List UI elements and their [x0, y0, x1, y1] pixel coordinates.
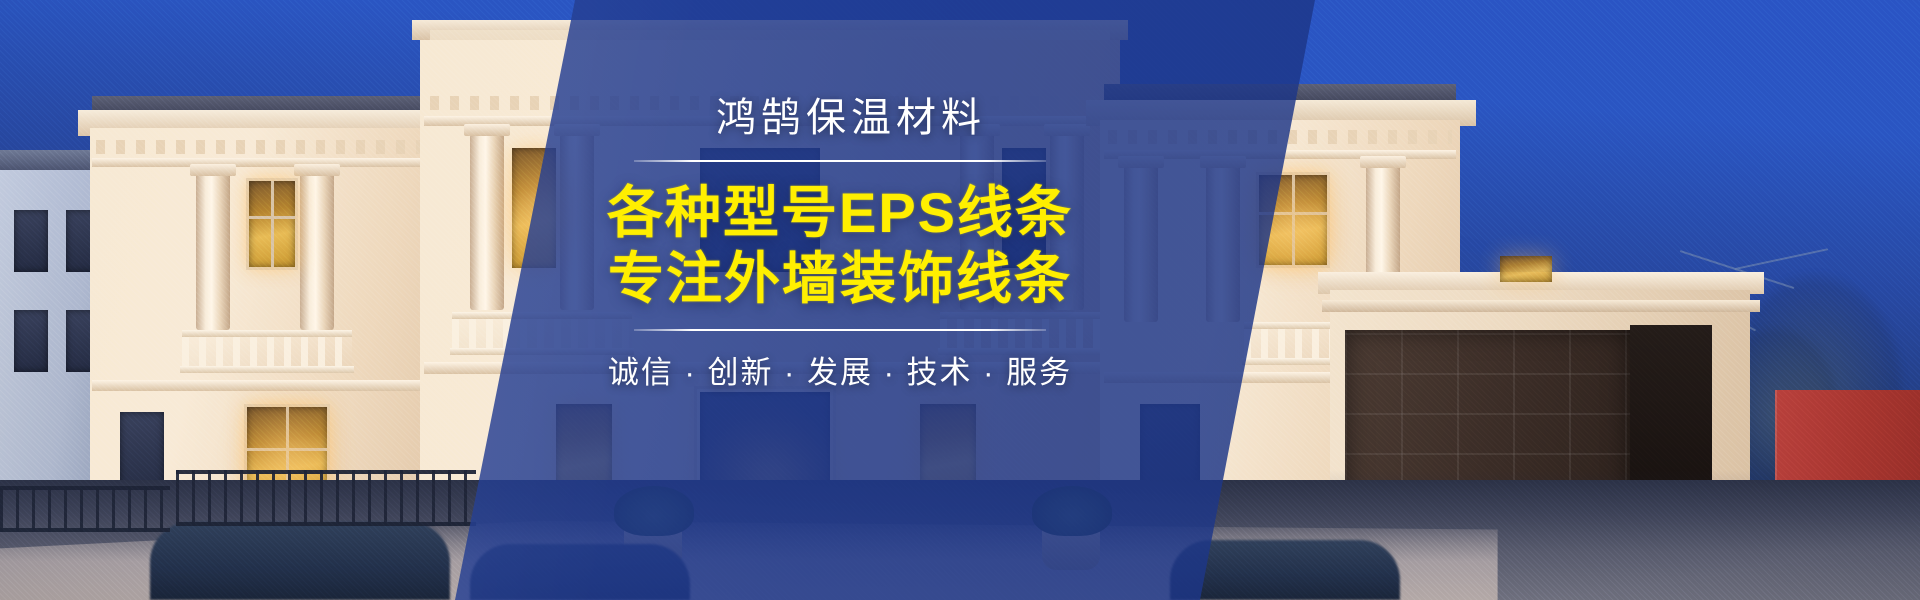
left-column-2 [300, 170, 334, 330]
right-column-1-capital [1118, 156, 1164, 168]
center-window-upper-left [512, 148, 556, 268]
left-window-upper-mullion [271, 181, 274, 267]
left-balcony-rail-top [182, 330, 352, 337]
headline: 各种型号EPS线条 专注外墙装饰线条 [560, 180, 1120, 311]
left-window-upper-transom [249, 216, 295, 219]
left-wing-dentils [96, 140, 444, 154]
left-wing-midband [92, 380, 448, 391]
right-column-2-capital [1200, 156, 1246, 168]
right-column-2 [1206, 162, 1240, 322]
left-balcony-balusters [182, 337, 352, 367]
right-window-upper-transom [1259, 212, 1327, 215]
banner-copy: 鸿鹄保温材料 各种型号EPS线条 专注外墙装饰线条 诚信 · 创新 · 发展 ·… [560, 96, 1120, 392]
left-column-2-capital [294, 164, 340, 176]
far-left-window-3 [14, 310, 48, 372]
garage-upper-window [1500, 256, 1552, 282]
garage-cornice-lower [1322, 300, 1760, 312]
hedge-right [1170, 540, 1400, 600]
hedge-left [150, 522, 450, 600]
shrub-right [1032, 486, 1112, 536]
right-column-3-capital [1360, 156, 1406, 168]
divider-bottom [634, 329, 1046, 331]
left-window-lower-transom [247, 448, 327, 451]
shrub-left [614, 486, 694, 536]
right-window-upper-mullion [1292, 175, 1295, 265]
left-column-1-capital [190, 164, 236, 176]
left-column-1 [196, 170, 230, 330]
hedge-center [470, 544, 690, 600]
far-left-window-1 [14, 210, 48, 272]
iron-railing-2 [0, 486, 170, 532]
brand-name: 鸿鹄保温材料 [560, 96, 1120, 140]
tagline: 诚信 · 创新 · 发展 · 技术 · 服务 [560, 347, 1120, 392]
center-column-1 [470, 130, 504, 310]
right-wing-dentils [1108, 130, 1452, 144]
right-column-1 [1124, 162, 1158, 322]
headline-line-1: 各种型号EPS线条 [560, 180, 1120, 246]
promo-banner: 鸿鹄保温材料 各种型号EPS线条 专注外墙装饰线条 诚信 · 创新 · 发展 ·… [0, 0, 1920, 600]
headline-line-2: 专注外墙装饰线条 [560, 246, 1120, 312]
left-wing-band [92, 158, 448, 167]
left-balcony-rail-bottom [180, 366, 354, 373]
iron-railing [176, 470, 476, 526]
divider-top [634, 160, 1046, 162]
center-column-1-capital [464, 124, 510, 136]
